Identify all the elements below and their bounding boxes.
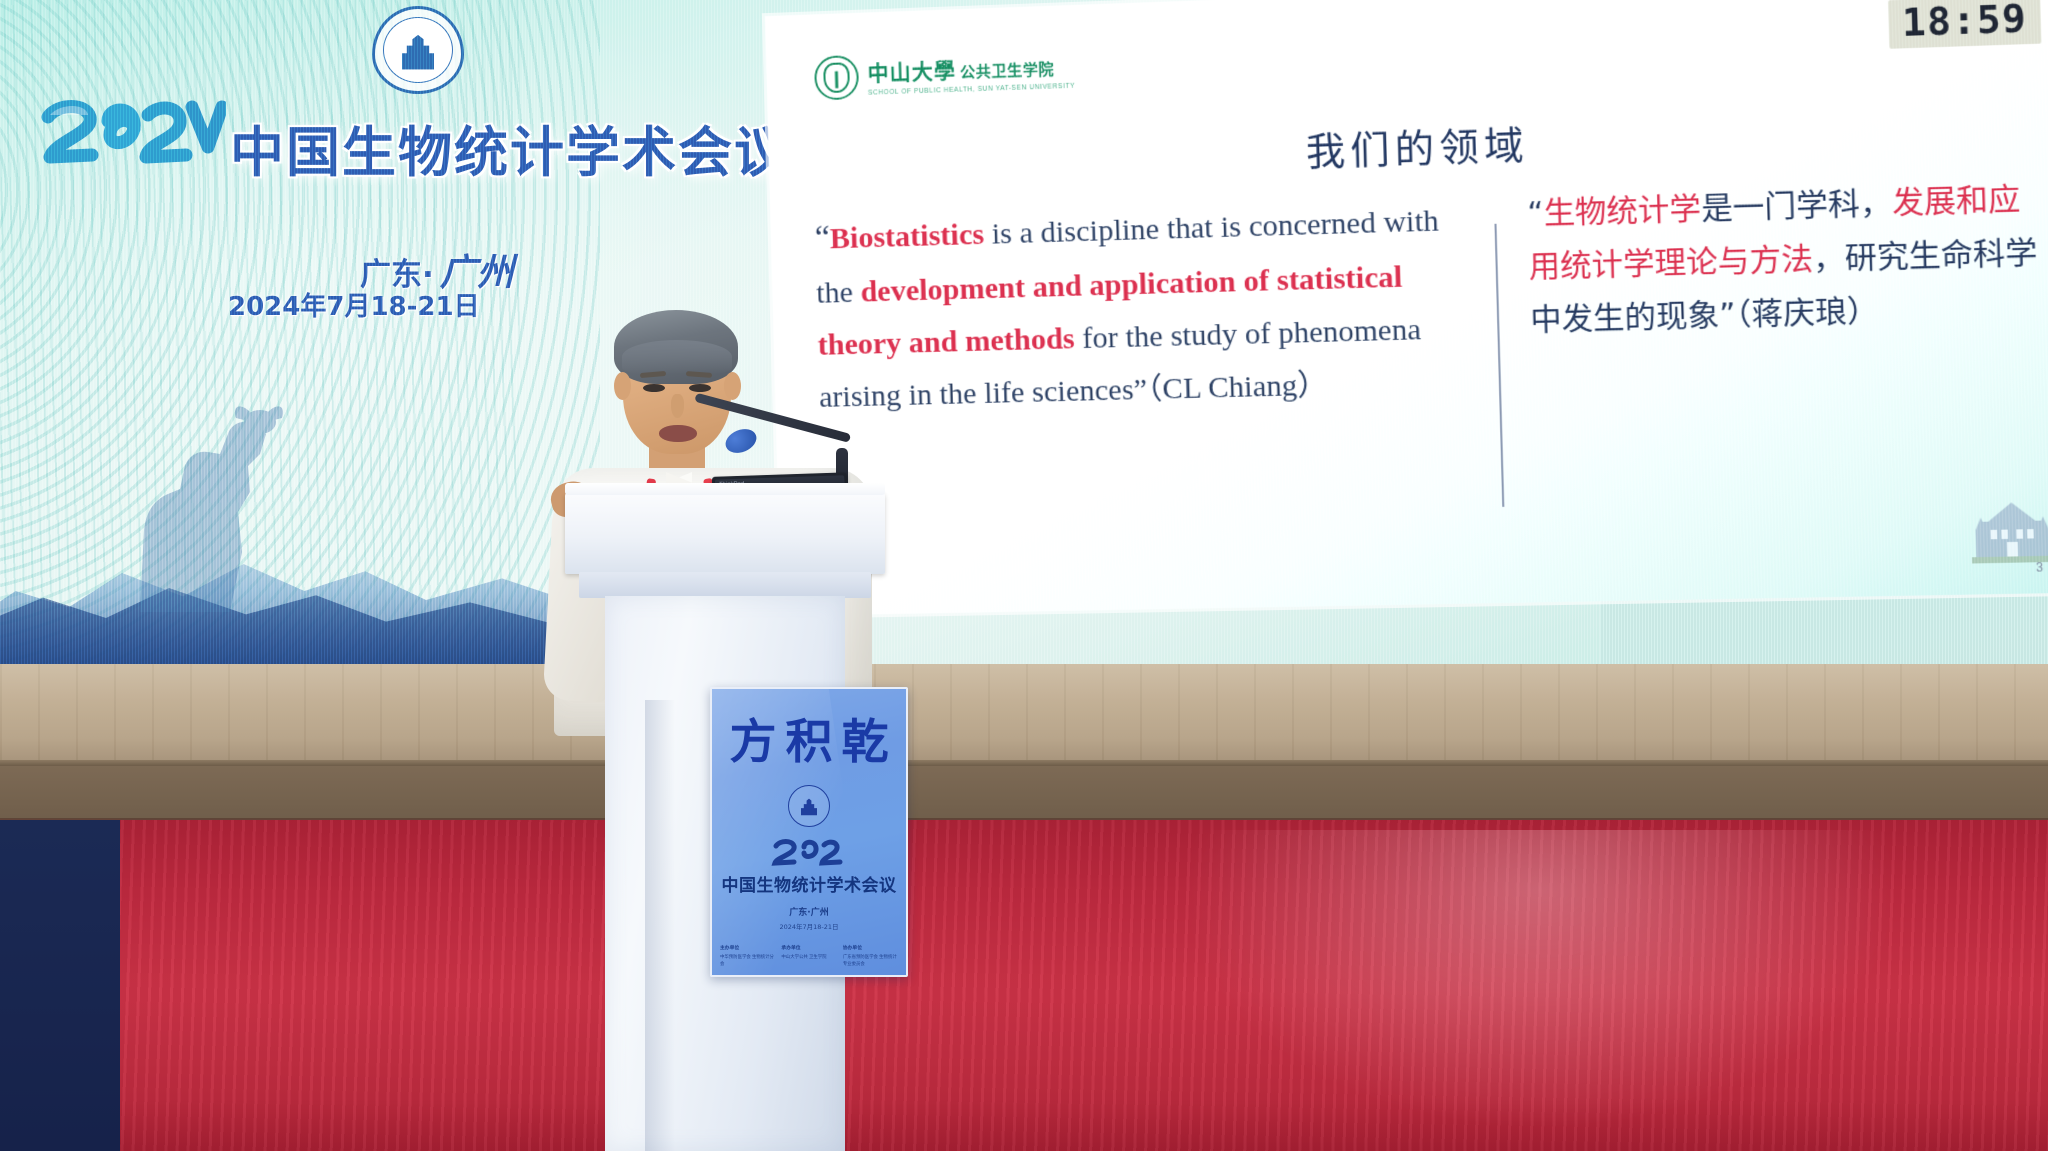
organizer-lines-1: 中山大学公共 卫生学院: [781, 954, 826, 959]
backdrop-location: 广东·广州: [360, 242, 514, 296]
en-quote-target-segment-7: for the study of phenomena arising in th…: [819, 313, 1422, 414]
organizer-block: 主办单位中华预防医学会 生物统计分会: [720, 946, 775, 967]
left-dark-column: [0, 820, 120, 1151]
nameplate-year-brush-wordmark: [770, 837, 848, 867]
cn-quote-target-segment-1: 是一门学科，: [1701, 185, 1893, 227]
five-rams-statue-graphic: [110, 362, 300, 612]
floor-light-reflection: [1180, 830, 1900, 1130]
backdrop-conference-title: 中国生物统计学术会议: [230, 108, 790, 187]
slide-page-number: 3: [2036, 560, 2044, 575]
sysu-logo-cn-sub: 公共卫生学院: [960, 60, 1055, 81]
podium-shading: [645, 700, 675, 1151]
speaker-ear-right: [724, 372, 741, 400]
speaker-ear-left: [614, 372, 631, 400]
organizer-block: 承办单位中山大学公共 卫生学院: [781, 946, 836, 967]
en-quote-target-segment-0: Biostatistics: [830, 218, 985, 256]
en-quote-target-segment-5: [957, 325, 965, 358]
conference-photo-scene: 中国生物统计学术会议 广东·广州 2024年7月18-21日: [0, 0, 2048, 1151]
slide-heading: 我们的领域: [768, 95, 2048, 193]
countdown-clock-display: 18:59: [1888, 0, 2042, 49]
slide-column-divider: [1494, 224, 1504, 507]
nameplate-organizers: 主办单位中华预防医学会 生物统计分会 承办单位中山大学公共 卫生学院 协办单位广…: [720, 946, 898, 967]
nameplate-date: 2024年7月18-21日: [712, 921, 906, 931]
sysu-logo-cn-main: 中山大學: [867, 58, 956, 85]
en-quote-target-segment-6: methods: [965, 322, 1076, 358]
en-quote-target-segment-1: is a discipline that is concerned with t…: [816, 204, 1439, 310]
cpma-emblem-icon: [372, 6, 464, 94]
backdrop-province: 广东: [360, 257, 422, 293]
cn-quote-target-segment-2: 发展和应用统计学理论与: [1528, 181, 2020, 285]
podium-top-surface: [565, 492, 885, 574]
backdrop-date: 2024年7月18-21日: [228, 286, 480, 323]
wall-wood-band: [0, 664, 2048, 768]
sysu-emblem-icon: [814, 55, 859, 101]
organizer-block: 协办单位广东省预防医学会 生物统计专业委员会: [843, 946, 898, 967]
year-brush-wordmark-backdrop: [36, 95, 226, 173]
speaker-hair: [614, 310, 738, 384]
sysu-school-logo: 中山大學公共卫生学院 SCHOOL OF PUBLIC HEALTH, SUN …: [814, 47, 1075, 100]
campus-building-illustration: [1970, 493, 2048, 563]
speaker-nose: [671, 394, 684, 418]
projected-slide: 中山大學公共卫生学院 SCHOOL OF PUBLIC HEALTH, SUN …: [765, 0, 2048, 616]
chinese-open-quote: “: [1527, 196, 1544, 232]
chinese-quote-block: “生物统计学是一门学科，发展和应用统计学理论与方法，研究生命科学中发生的现象”（…: [1495, 172, 2048, 349]
english-quote-block: “Biostatistics is a discipline that is c…: [814, 189, 1499, 423]
speaker-eye-left: [643, 384, 665, 392]
organizer-heading-2: 协办单位: [843, 946, 898, 953]
cn-quote-target-segment-4: 方法: [1749, 242, 1814, 280]
speaking-podium: 方积乾 中国生物统计学术会议 广东·广州 2024年7月18-21日 主办单位中…: [565, 492, 885, 1151]
en-quote-target-segment-3: [1235, 265, 1244, 299]
slide-body: “Biostatistics is a discipline that is c…: [814, 172, 2048, 577]
nameplate-cpma-emblem-icon: [788, 785, 830, 827]
podium-nameplate-card: 方积乾 中国生物统计学术会议 广东·广州 2024年7月18-21日 主办单位中…: [710, 687, 908, 977]
speaker-mouth: [659, 425, 697, 442]
sysu-logo-en: SCHOOL OF PUBLIC HEALTH, SUN YAT-SEN UNI…: [868, 82, 1075, 96]
organizer-heading-1: 承办单位: [781, 946, 836, 953]
backdrop-separator: ·: [422, 257, 434, 293]
speaker-eye-right: [689, 384, 711, 392]
nameplate-conference-title: 中国生物统计学术会议: [712, 871, 906, 896]
cn-quote-target-segment-5: ，研究生命科学中发生的现象”（蒋庆琅）: [1530, 235, 2038, 339]
moire-pattern-overlay-2: [0, 0, 520, 672]
organizer-lines-0: 中华预防医学会 生物统计分会: [720, 954, 774, 965]
english-open-quote: “: [814, 219, 830, 256]
moire-pattern-overlay: [0, 0, 600, 672]
nameplate-place: 广东·广州: [712, 905, 906, 918]
nameplate-speaker-name: 方积乾: [712, 703, 906, 772]
organizer-lines-2: 广东省预防医学会 生物统计专业委员会: [843, 954, 897, 965]
podium-column: 方积乾 中国生物统计学术会议 广东·广州 2024年7月18-21日 主办单位中…: [605, 596, 845, 1151]
cn-quote-target-segment-0: 生物统计学: [1543, 191, 1701, 232]
backdrop-city: 广州: [440, 251, 514, 294]
organizer-heading-0: 主办单位: [720, 946, 775, 953]
en-quote-target-segment-4: of statistical theory and: [817, 261, 1402, 362]
podium-lip: [579, 572, 871, 598]
en-quote-target-segment-2: development and application: [860, 265, 1236, 309]
